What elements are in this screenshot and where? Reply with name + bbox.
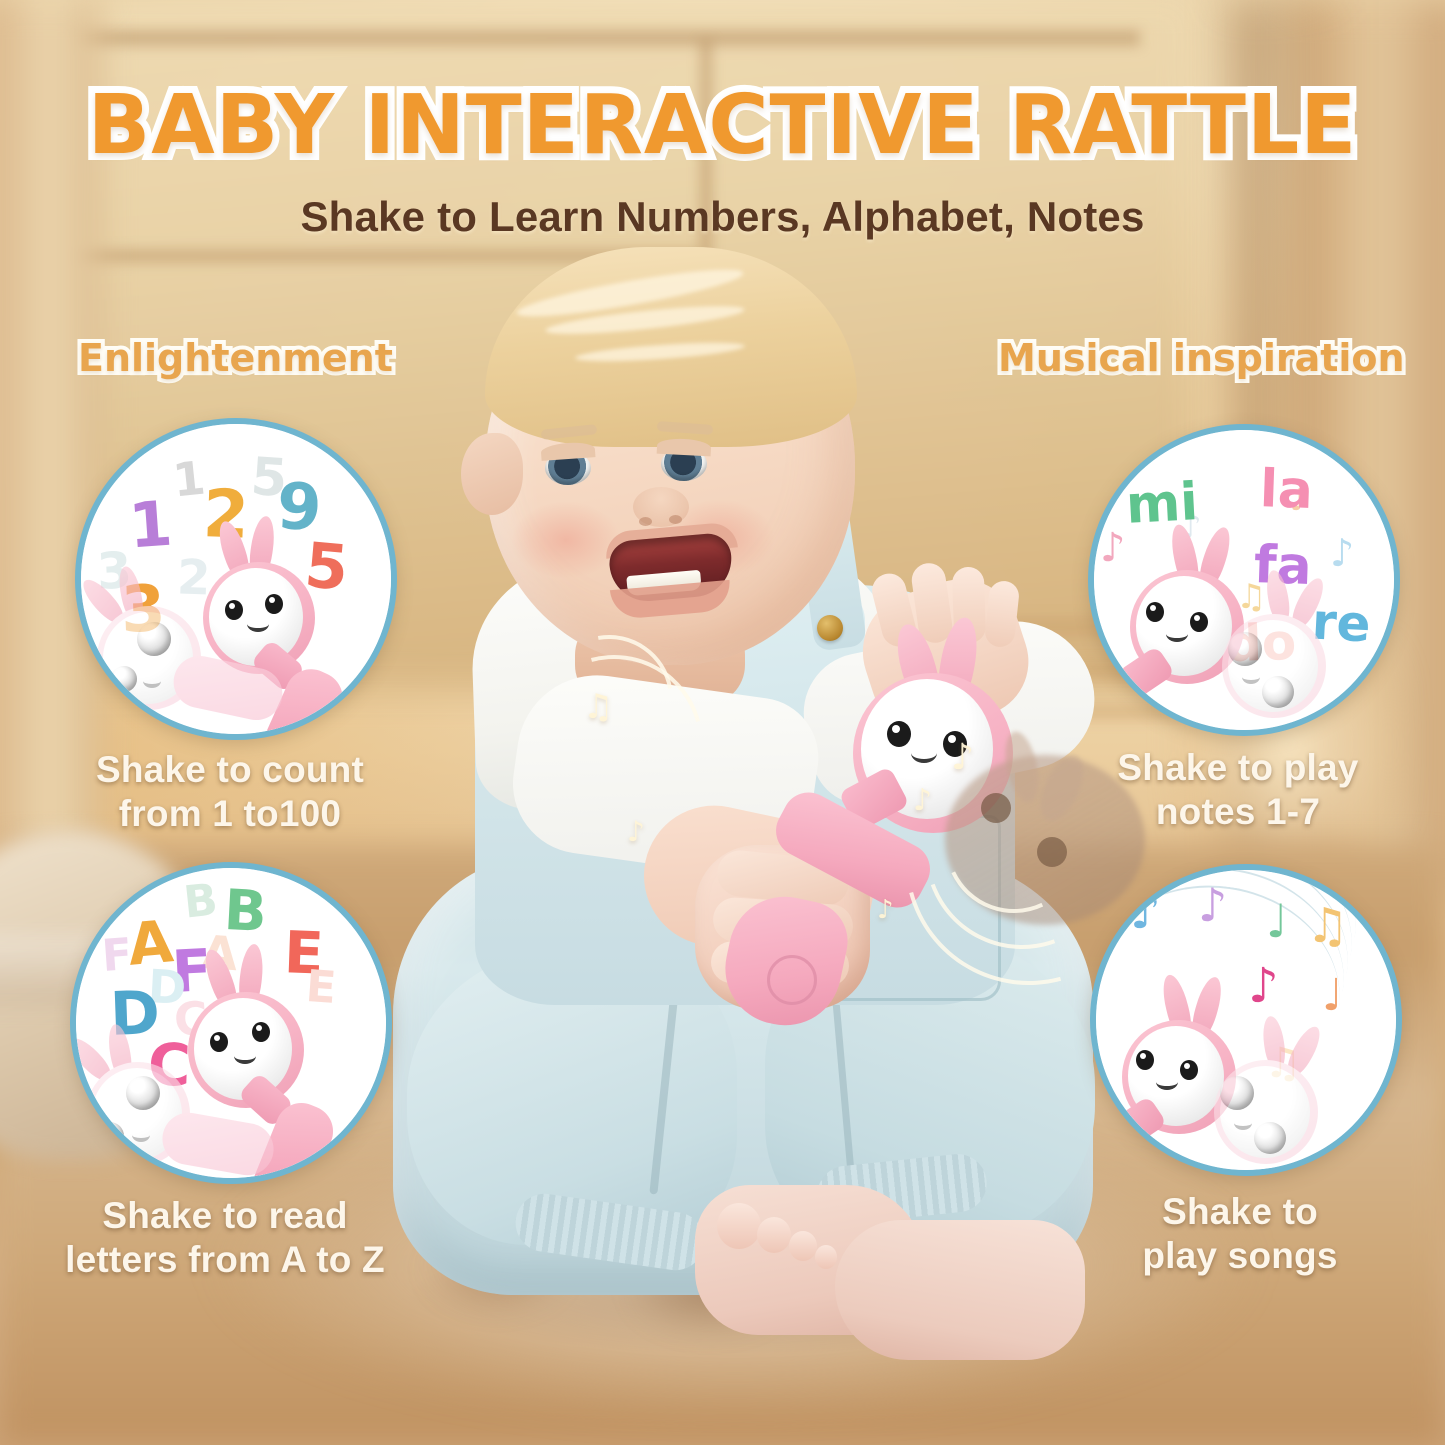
product-marketing-image: ♫ ♪ ♪ ♪ ♪ BABY INTERACTIVE RATTLE Shake … (0, 0, 1445, 1445)
section-label-enlightenment: Enlightenment (78, 336, 393, 380)
circle-content: ♪♪♩♫♪♩♫ (1096, 870, 1396, 1170)
feature-caption-counting: Shake to count from 1 to100 (35, 748, 425, 835)
caption-line-1: Shake to play (1048, 746, 1428, 790)
rattle-button (767, 955, 817, 1005)
feature-caption-notes: Shake to play notes 1-7 (1048, 746, 1428, 833)
rattle-bead (1228, 632, 1262, 666)
rattle-bead (137, 622, 171, 656)
rattle-bead (1262, 676, 1294, 708)
music-note-icon: ♪ (1330, 534, 1354, 572)
cabinet-line (60, 30, 1140, 46)
bunny-eye-shine (1140, 1053, 1146, 1059)
music-note-icon: ♫ (583, 687, 613, 727)
rattle-toy-inline-secondary (1200, 1022, 1390, 1170)
rattle-handle (158, 1109, 277, 1178)
baby-toe (789, 1231, 817, 1261)
baby-foot-right (835, 1220, 1085, 1360)
baby-toe (717, 1203, 761, 1249)
bunny-eye-shine (1150, 605, 1156, 611)
baby-nostril (669, 515, 682, 524)
music-note-icon: ♪ (627, 815, 645, 848)
feature-circle-notes: ♪♪♫♪♪ milafaredo (1088, 424, 1400, 736)
bunny-eye-shine (1194, 615, 1200, 621)
baby-nostril (639, 517, 652, 526)
caption-line-1: Shake to (1070, 1190, 1410, 1234)
letter-glyph: B (182, 878, 220, 925)
caption-line-1: Shake to read (10, 1194, 440, 1238)
caption-line-2: play songs (1070, 1234, 1410, 1278)
caption-line-1: Shake to count (35, 748, 425, 792)
rattle-bead (1220, 1076, 1254, 1110)
bunny-smile (1234, 1116, 1252, 1130)
section-label-musical: Musical inspiration (998, 336, 1405, 380)
letter-glyph: F (101, 933, 134, 979)
music-note-icon: ♪ (1198, 882, 1227, 928)
bunny-smile (911, 743, 937, 763)
baby-toe (757, 1217, 791, 1253)
music-note-icon: ♩ (1322, 974, 1343, 1018)
caption-line-2: notes 1-7 (1048, 790, 1428, 834)
baby-ear-left (461, 433, 523, 515)
music-note-icon: ♩ (1266, 898, 1288, 944)
bunny-eye-left (887, 721, 911, 747)
bunny-smile (132, 1128, 150, 1142)
rattle-bead (126, 1076, 160, 1110)
rattle-bead (96, 1122, 124, 1150)
feature-caption-songs: Shake to play songs (1070, 1190, 1410, 1277)
page-title: BABY INTERACTIVE RATTLE (0, 78, 1445, 173)
bunny-smile (1166, 626, 1188, 642)
bunny-smile (1242, 670, 1260, 684)
feature-circle-alphabet: BBAFAEFDDECC (70, 862, 392, 1184)
rattle-bead (111, 666, 137, 692)
circle-content: 151293253 (81, 424, 391, 734)
baby-photo: ♫ ♪ ♪ ♪ ♪ (365, 255, 1125, 1445)
bunny-smile (1156, 1074, 1178, 1090)
music-note-icon: ♪ (913, 783, 932, 818)
page-subtitle: Shake to Learn Numbers, Alphabet, Notes (0, 193, 1445, 241)
music-note-icon: ♪ (951, 737, 974, 778)
solfege-glyph: mi (1125, 476, 1200, 532)
music-note-icon: ♪ (1130, 888, 1161, 936)
music-note-icon: ♪ (877, 895, 894, 925)
rattle-handle (169, 651, 287, 725)
rattle-toy-inline-secondary (1206, 576, 1394, 730)
caption-line-2: from 1 to100 (35, 792, 425, 836)
feature-caption-alphabet: Shake to read letters from A to Z (10, 1194, 440, 1281)
bunny-smile (143, 674, 161, 688)
baby-cheek-left (511, 501, 621, 579)
music-note-icon: ♫ (1306, 902, 1349, 950)
circle-content: BBAFAEFDDECC (76, 868, 386, 1178)
rattle-bead (1254, 1122, 1286, 1154)
baby-toe (815, 1245, 837, 1269)
solfege-glyph: la (1259, 463, 1314, 517)
bunny-eye-shine (1184, 1063, 1190, 1069)
number-glyph: 1 (171, 454, 208, 503)
rattle-toy-inline-secondary (76, 1026, 266, 1178)
rattle-toy-inline-secondary (81, 570, 277, 734)
caption-line-2: letters from A to Z (10, 1238, 440, 1282)
number-glyph: 1 (127, 493, 174, 558)
bunny-eye-shine (892, 725, 900, 733)
feature-circle-songs: ♪♪♩♫♪♩♫ (1090, 864, 1402, 1176)
feature-circle-counting: 151293253 (75, 418, 397, 740)
circle-content: ♪♪♫♪♪ milafaredo (1094, 430, 1394, 730)
